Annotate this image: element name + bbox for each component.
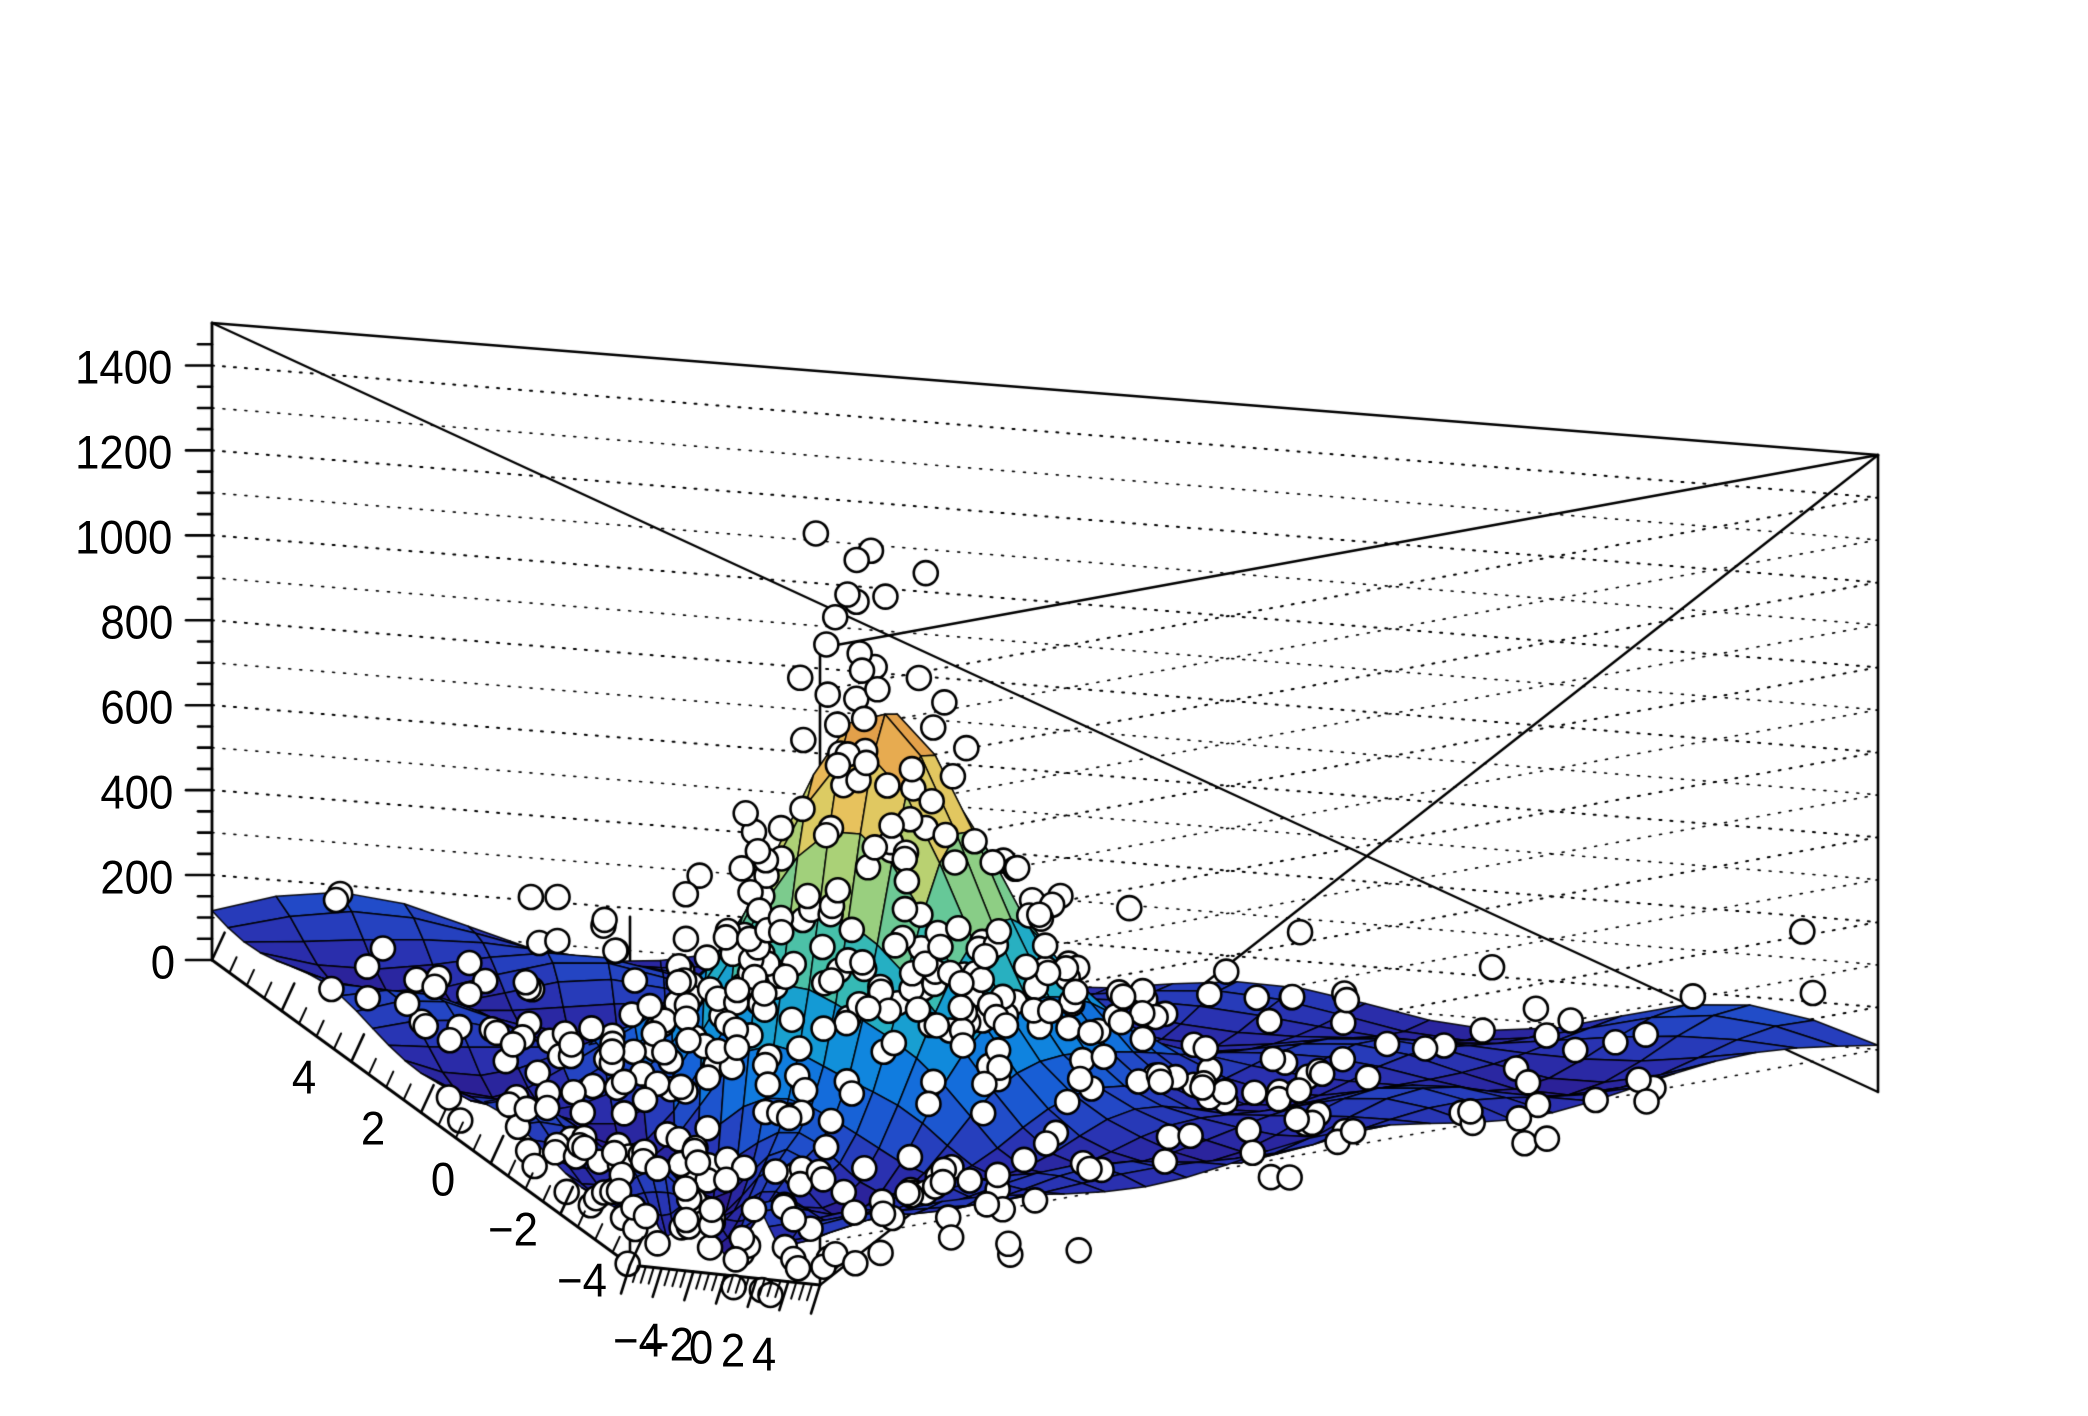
x-tick-label-1: −2: [644, 1316, 694, 1371]
y-tick-label-0: −4: [557, 1253, 607, 1308]
y-tick-label-2: 0: [431, 1151, 455, 1206]
z-tick-label-0: 0: [151, 935, 175, 990]
z-tick-label-400: 400: [100, 765, 173, 820]
root-canvas-window: Minuit fit result on the Graph2DErrors p…: [0, 0, 2088, 1416]
z-tick-label-600: 600: [100, 680, 173, 735]
y-tick-label-1: −2: [488, 1202, 538, 1257]
surface-plot-canvas[interactable]: [0, 0, 2088, 1416]
x-tick-label-2: 0: [689, 1320, 713, 1375]
z-tick-label-800: 800: [100, 595, 173, 650]
y-tick-label-3: 2: [361, 1100, 385, 1155]
y-tick-label-4: 4: [292, 1049, 316, 1104]
z-tick-label-1200: 1200: [75, 425, 172, 480]
z-tick-label-1400: 1400: [75, 340, 172, 395]
z-tick-label-1000: 1000: [75, 510, 172, 565]
x-tick-label-4: 4: [752, 1326, 776, 1381]
z-tick-label-200: 200: [100, 850, 173, 905]
x-tick-label-3: 2: [721, 1323, 745, 1378]
